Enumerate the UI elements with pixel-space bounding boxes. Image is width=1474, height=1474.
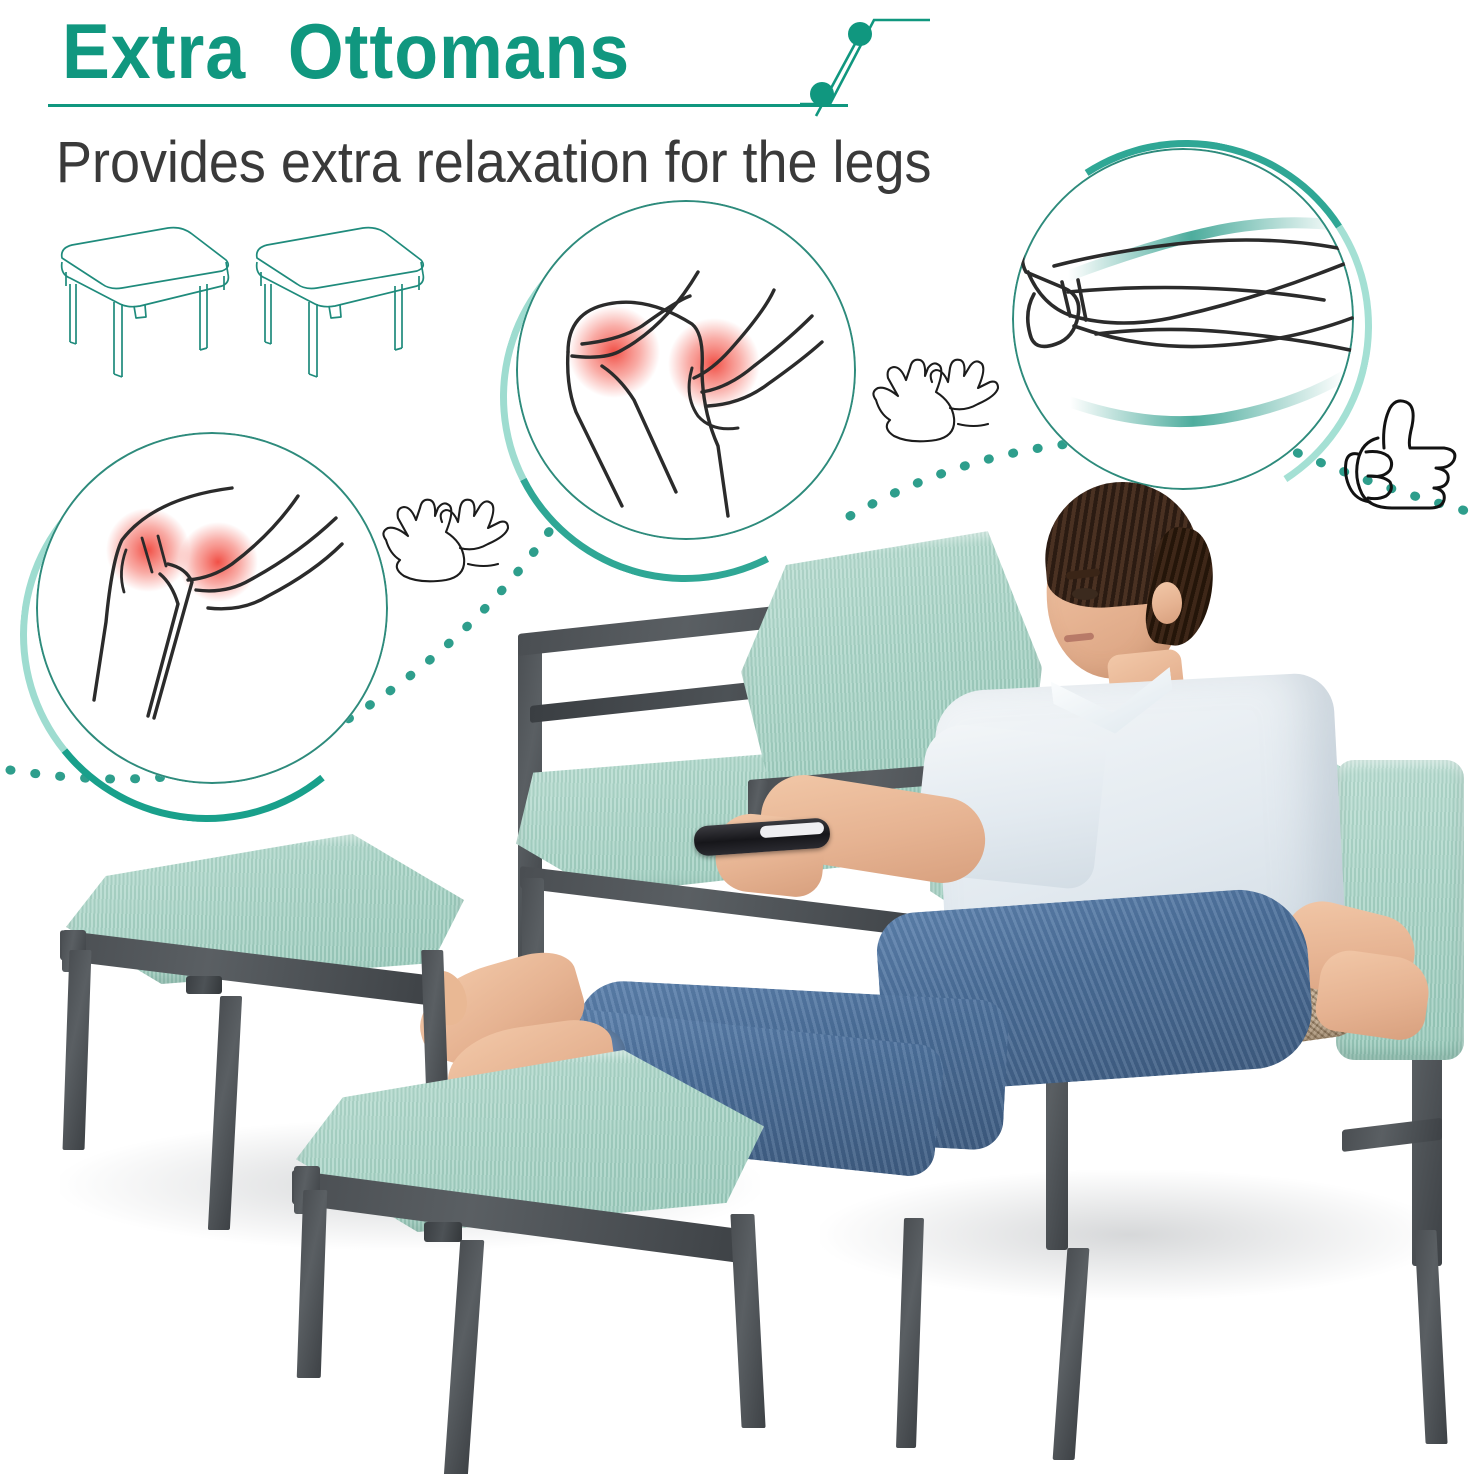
ottoman-outline-icon-2 <box>245 222 435 387</box>
model-ear <box>1152 582 1182 624</box>
ottoman-rear-brace <box>186 976 222 994</box>
page-title: Extra Ottomans <box>62 8 630 94</box>
infographic-canvas: Extra Ottomans Provides extra relaxation… <box>0 0 1474 1474</box>
ottoman-front-leg-front-right <box>730 1214 765 1428</box>
model-eye <box>1072 588 1098 600</box>
ottoman-front-leg-front-left <box>444 1240 485 1474</box>
page-subtitle: Provides extra relaxation for the legs <box>56 130 931 196</box>
ottoman-front-leg-back-left <box>297 1190 328 1378</box>
product-photo-scene <box>0 430 1474 1474</box>
circuit-node-decoration-icon <box>800 8 930 118</box>
ottoman-outline-icon-1 <box>50 222 240 387</box>
ottoman-front-brace <box>424 1222 462 1242</box>
title-underline <box>48 104 848 107</box>
sofa-rear-leg-right <box>1414 1230 1447 1444</box>
